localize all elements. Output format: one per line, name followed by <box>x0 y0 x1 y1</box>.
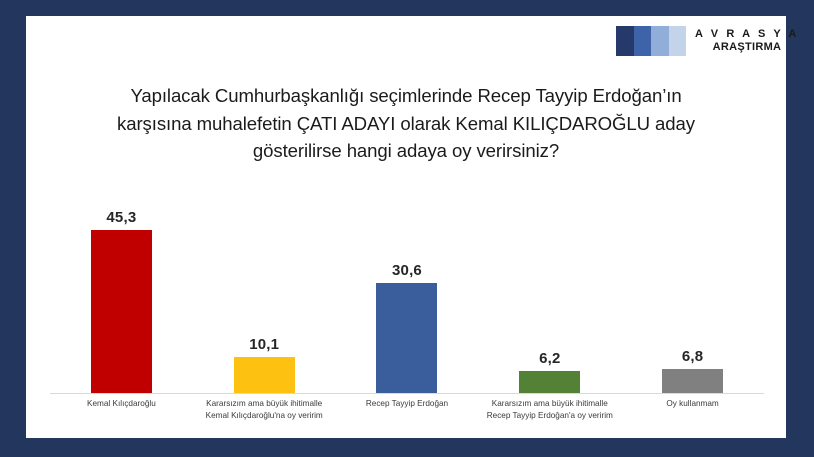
bar-column[interactable]: 30,6 <box>336 262 479 393</box>
logo-bar-3 <box>651 26 669 56</box>
chart-baseline-axis <box>50 393 764 394</box>
logo-bar-1 <box>616 26 634 56</box>
category-label: Oy kullanmam <box>621 398 764 410</box>
logo-text: A V R A S Y A ARAŞTIRMA <box>695 28 799 54</box>
bar-column[interactable]: 6,2 <box>478 350 621 393</box>
bar-value-label: 45,3 <box>106 209 136 226</box>
category-label: Recep Tayyip Erdoğan <box>336 398 479 410</box>
page-title-line-1: Yapılacak Cumhurbaşkanlığı seçimlerinde … <box>66 82 746 110</box>
chart-plot-area: 45,3Kemal Kılıçdaroğlu10,1Kararsızım ama… <box>50 188 764 394</box>
category-label: Kemal Kılıçdaroğlu <box>50 398 193 410</box>
bar-value-label: 6,8 <box>682 348 703 365</box>
bar-rect[interactable] <box>234 357 295 393</box>
category-label-line: Kemal Kılıçdaroğlu'na oy veririm <box>193 410 336 422</box>
bar-rect[interactable] <box>91 230 152 393</box>
category-label-line: Recep Tayyip Erdoğan'a oy veririm <box>478 410 621 422</box>
page-title: Yapılacak Cumhurbaşkanlığı seçimlerinde … <box>66 82 746 165</box>
bar-rect[interactable] <box>662 369 723 393</box>
bar-chart: 45,3Kemal Kılıçdaroğlu10,1Kararsızım ama… <box>26 188 786 438</box>
logo-bar-4 <box>669 26 687 56</box>
logo-bars-icon <box>616 26 686 56</box>
bar-rect[interactable] <box>376 283 437 393</box>
bar-rect[interactable] <box>519 371 580 393</box>
page-title-line-3: gösterilirse hangi adaya oy verirsiniz? <box>66 137 746 165</box>
category-label-line: Kararsızım ama büyük ihitimalle <box>478 398 621 410</box>
category-label-line: Recep Tayyip Erdoğan <box>336 398 479 410</box>
category-label-line: Kemal Kılıçdaroğlu <box>50 398 193 410</box>
bar-column[interactable]: 10,1 <box>193 336 336 393</box>
logo-bar-2 <box>634 26 652 56</box>
avrasya-arastirma-logo: A V R A S Y A ARAŞTIRMA <box>616 26 799 56</box>
category-label-line: Oy kullanmam <box>621 398 764 410</box>
logo-line1: A V R A S Y A <box>695 28 799 41</box>
logo-line2: ARAŞTIRMA <box>713 41 782 54</box>
page-title-line-2: karşısına muhalefetin ÇATI ADAYI olarak … <box>66 110 746 138</box>
bar-value-label: 10,1 <box>249 336 279 353</box>
category-label: Kararsızım ama büyük ihitimalleRecep Tay… <box>478 398 621 423</box>
bar-value-label: 30,6 <box>392 262 422 279</box>
bar-value-label: 6,2 <box>539 350 560 367</box>
category-label-line: Kararsızım ama büyük ihitimalle <box>193 398 336 410</box>
bar-column[interactable]: 6,8 <box>621 348 764 393</box>
category-label: Kararsızım ama büyük ihitimalleKemal Kıl… <box>193 398 336 423</box>
slide-canvas: A V R A S Y A ARAŞTIRMA Yapılacak Cumhur… <box>26 16 786 438</box>
slide-root: A V R A S Y A ARAŞTIRMA Yapılacak Cumhur… <box>0 0 814 457</box>
bar-column[interactable]: 45,3 <box>50 209 193 393</box>
